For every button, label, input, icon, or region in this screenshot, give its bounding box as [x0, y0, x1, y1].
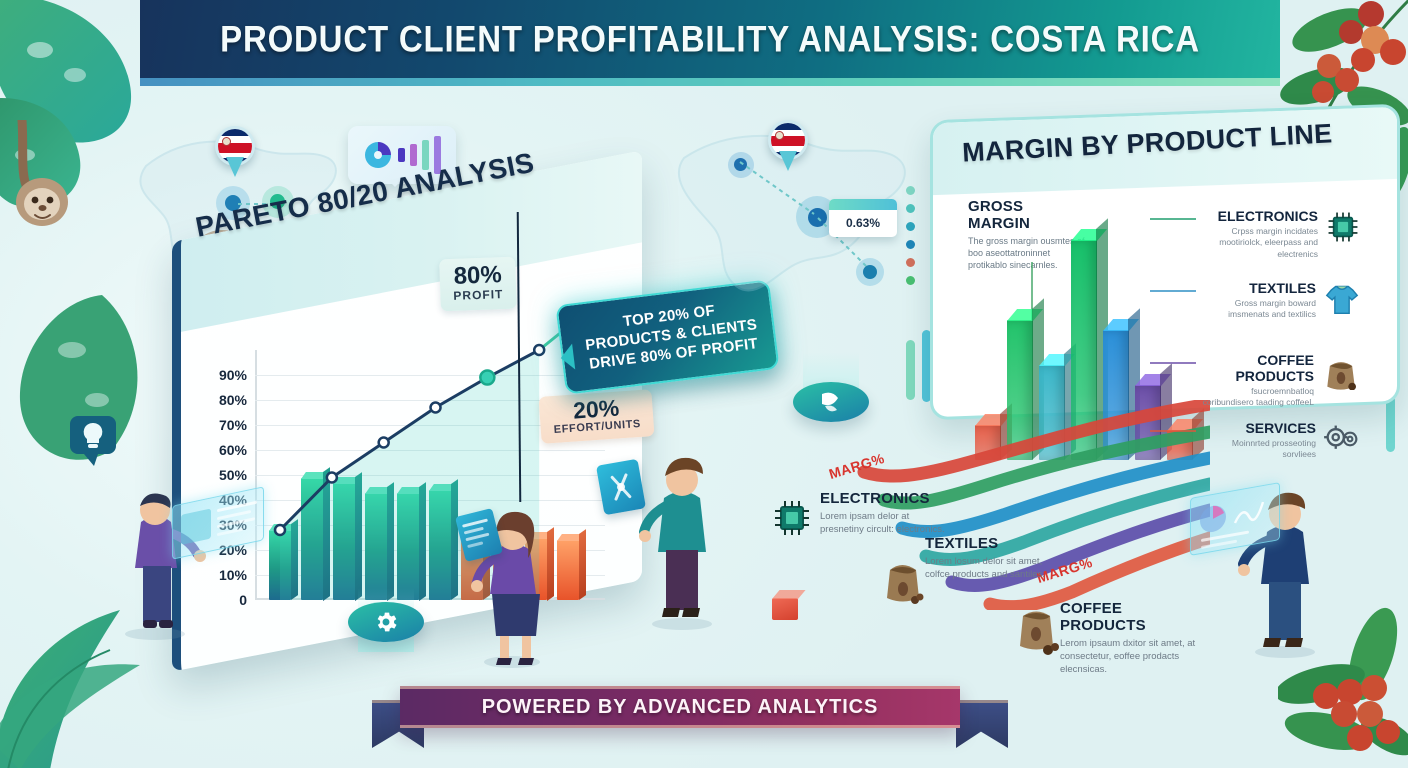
y-tick-label: 50%: [219, 467, 247, 483]
status-dot-4: [906, 240, 915, 249]
gear-disc-icon[interactable]: [348, 602, 424, 642]
status-dot-column: [906, 186, 915, 285]
pin-tip-left: [226, 157, 244, 177]
microchip-icon: [1326, 210, 1360, 249]
legend-item-electronics[interactable]: ELECTRONICSCrpss margin incidates mootir…: [1200, 208, 1360, 260]
page-title: PRODUCT CLIENT PROFITABILITY ANALYSIS: C…: [220, 18, 1200, 61]
gear-icon: [373, 609, 399, 635]
coffee-sack-icon-mid-2: [1012, 598, 1060, 656]
status-dot-6: [906, 276, 915, 285]
cumulative-marker: [431, 403, 441, 413]
mid-legend-electronics-label: ELECTRONICS: [820, 490, 950, 507]
legend-label: TEXTILES: [1200, 280, 1316, 296]
profit-badge: 80% PROFIT: [439, 257, 517, 312]
y-tick-label: 70%: [219, 417, 247, 433]
cumulative-marker: [534, 345, 544, 355]
legend-item-coffee-products[interactable]: COFFEE PRODUCTSfsucroemnbatloq coribundi…: [1200, 352, 1360, 409]
legend-leader-line: [1150, 218, 1196, 220]
header-underline: [140, 78, 1280, 86]
cumulative-marker: [327, 473, 337, 483]
ribbon-tail-right: [956, 700, 1008, 748]
footer-ribbon-label: POWERED BY ADVANCED ANALYTICS: [482, 696, 879, 719]
sloth-illustration-left: [4, 120, 84, 230]
map-metric-tooltip[interactable]: 0.63%: [829, 199, 897, 237]
y-tick-label: 10%: [219, 567, 247, 583]
mid-legend-textiles-label: TEXTILES: [925, 535, 1045, 552]
mid-legend-textiles: TEXTILES Lorem losum delor sit amet, col…: [925, 535, 1045, 581]
y-tick-label: 80%: [219, 392, 247, 408]
y-tick-label: 0: [239, 592, 247, 608]
legend-label: COFFEE PRODUCTS: [1200, 352, 1314, 384]
legend-item-textiles[interactable]: TEXTILESGross margin boward imsmenats an…: [1200, 280, 1360, 321]
header-bar: PRODUCT CLIENT PROFITABILITY ANALYSIS: C…: [140, 0, 1280, 78]
coffee-sack-icon: [1322, 354, 1360, 395]
mid-legend-electronics: ELECTRONICS Lorem ipsam delor at presnet…: [820, 490, 950, 536]
infographic-canvas: PRODUCT CLIENT PROFITABILITY ANALYSIS: C…: [0, 0, 1408, 768]
profit-badge-value: 80%: [452, 263, 503, 289]
status-dot-2: [906, 204, 915, 213]
profit-badge-label: PROFIT: [453, 287, 503, 303]
y-tick-label: 90%: [219, 367, 247, 383]
mid-legend-coffee: COFFEE PRODUCTS Lerom ipsaum dxitor sit …: [1060, 600, 1205, 676]
legend-leader-line: [1150, 290, 1196, 292]
legend-leader-line: [1150, 430, 1196, 432]
mid-legend-coffee-body: Lerom ipsaum dxitor sit amet, at consect…: [1060, 637, 1205, 676]
spark-bar-3: [1386, 396, 1395, 452]
bar-icon-1: [398, 148, 405, 162]
legend-leader-line: [1150, 362, 1196, 364]
mid-legend-electronics-body: Lorem ipsam delor at presnetiny circult:…: [820, 510, 950, 536]
costa-rica-flag-pin-left[interactable]: [215, 126, 255, 178]
legend-body: fsucroemnbatloq coribundisero taading co…: [1200, 386, 1314, 409]
cumulative-marker: [379, 438, 389, 448]
microchip-icon-mid: [772, 498, 812, 538]
gears-icon: [1324, 422, 1360, 461]
tooltip-header-bar: [829, 199, 897, 210]
legend-body: Moinnrted prosseoting sorvliees: [1200, 438, 1316, 461]
legend-label: ELECTRONICS: [1200, 208, 1318, 224]
status-dot-1: [906, 186, 915, 195]
coffee-sack-icon-mid-1: [880, 550, 926, 606]
legend-label: SERVICES: [1200, 420, 1316, 436]
cumulative-marker: [480, 371, 494, 385]
tablet-device-center[interactable]: [596, 459, 646, 516]
cumulative-marker: [275, 525, 285, 535]
y-tick-label: 60%: [219, 442, 247, 458]
lightbulb-idea-icon[interactable]: [68, 414, 120, 468]
legend-body: Crpss margin incidates mootiriolck, elee…: [1200, 226, 1318, 260]
analytics-glyph-icon: [596, 459, 646, 516]
legend-body: Gross margin boward imsmenats and textil…: [1200, 298, 1316, 321]
legend-item-services[interactable]: SERVICESMoinnrted prosseoting sorvliees: [1200, 420, 1360, 461]
tooltip-value: 0.63%: [829, 210, 897, 236]
footer-ribbon: POWERED BY ADVANCED ANALYTICS: [400, 686, 960, 728]
person-analyst-center: [630, 442, 740, 637]
spark-bar-1: [906, 340, 915, 400]
status-dot-5: [906, 258, 915, 267]
tshirt-icon: [1324, 282, 1360, 321]
status-dot-3: [906, 222, 915, 231]
bar-icon-2: [410, 144, 417, 166]
mid-legend-coffee-label: COFFEE PRODUCTS: [1060, 600, 1205, 634]
mid-legend-textiles-body: Lorem losum delor sit amet, colfce produ…: [925, 555, 1045, 581]
pie-chart-icon: [363, 140, 393, 170]
effort-badge: 20% EFFORT/UNITS: [538, 389, 654, 444]
person-analyst-left: [105, 470, 215, 645]
